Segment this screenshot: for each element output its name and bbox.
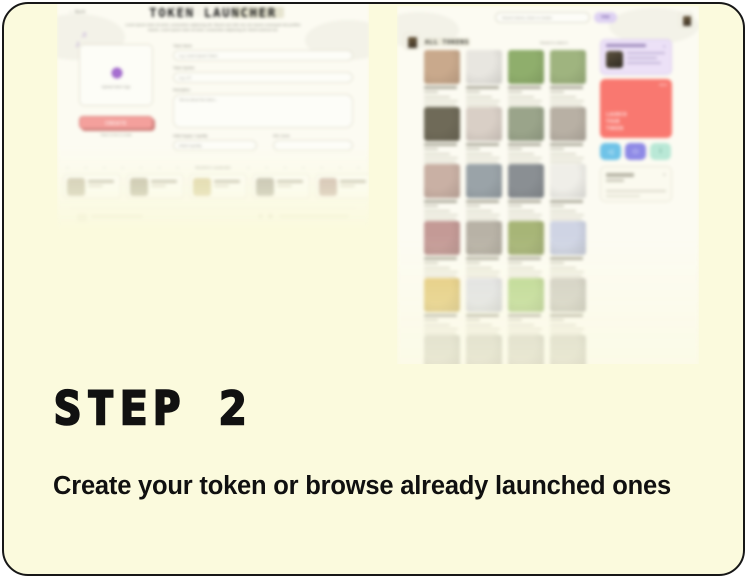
field-label-token-symbol: Token Symbol [173,66,194,70]
token-desc-line [550,161,582,163]
tab-dot[interactable]: • [85,166,86,170]
token-desc-line [508,104,540,106]
token-name [88,180,114,183]
token-desc-line [424,271,458,273]
search-button[interactable]: FIND [594,12,617,23]
token-desc-line [508,328,542,330]
token-name [466,86,499,89]
promo-badge: NEW [659,83,667,87]
token-card[interactable] [550,107,586,172]
token-creator [508,210,534,212]
token-creator [550,153,576,155]
step-card: ← Back TOKEN LAUNCHER Lorem ipsum dolor … [2,2,745,576]
token-name [550,143,583,146]
launcher-subtitle: Lorem ipsum dolor sit amet, consectetur … [125,23,301,34]
share-icon: ◁ [608,148,613,156]
tab-dot[interactable]: • [358,166,359,170]
token-image [508,221,544,255]
token-desc-line [466,161,498,163]
token-name [508,200,541,203]
token-card[interactable] [508,278,544,343]
tab-dot[interactable]: • [321,166,322,170]
token-card[interactable] [508,50,544,115]
token-desc-line [550,218,582,220]
token-creator [550,324,576,326]
token-card[interactable] [508,107,544,172]
token-desc-line [508,218,540,220]
token-image [424,278,460,312]
tab-dot[interactable]: • [159,166,160,170]
token-desc-line [466,218,498,220]
stats-line [606,195,640,197]
token-name [550,314,583,317]
token-creator [424,210,450,212]
carousel-token-card[interactable] [63,174,121,199]
token-desc-line [466,157,500,159]
token-image [550,164,586,198]
token-image [466,335,502,364]
token-image [466,221,502,255]
field-label-liquidity: Initial Supply / Liquidity [173,134,208,138]
token-desc-line [466,332,498,334]
token-card[interactable] [550,335,586,364]
token-symbol [550,148,564,150]
info-button[interactable]: i [650,143,671,160]
app-logo-icon[interactable] [404,33,419,50]
recent-token-carousel[interactable] [57,174,369,200]
community-icon: ⚇ [632,148,638,156]
token-desc-line [466,104,498,106]
token-symbol [214,185,229,187]
music-note-decoration: ♬ [81,30,89,39]
token-card[interactable] [466,50,502,115]
stats-info-card[interactable]: ✕ [600,166,672,202]
notification-thumbnail [606,51,623,68]
token-card[interactable] [508,164,544,229]
token-card[interactable] [466,107,502,172]
token-image [508,278,544,312]
token-image [550,221,586,255]
token-symbol [151,185,166,187]
field-label-curve: SOL Curve [273,134,290,138]
token-card[interactable] [466,335,502,364]
token-card[interactable] [424,107,460,172]
token-creator [508,267,534,269]
token-creator [508,324,534,326]
token-desc-line [550,100,584,102]
token-creator [550,267,576,269]
token-card[interactable] [550,50,586,115]
token-name [466,257,499,260]
token-image [466,278,502,312]
token-desc-line [550,157,584,159]
token-symbol [466,319,480,321]
create-note: Token is free to create [79,133,153,137]
token-desc-line [508,161,540,163]
stats-line [606,190,666,192]
token-name [424,257,457,260]
token-symbol [466,205,480,207]
token-symbol [466,148,480,150]
liquidity-select[interactable]: Initial Liquidity [173,140,257,151]
token-image [424,107,460,141]
token-name [151,180,177,183]
launcher-page-title: TOKEN LAUNCHER [57,5,369,20]
token-symbol-value: e.g. LIT [179,76,191,80]
search-button-label: FIND [594,15,617,19]
token-card[interactable] [508,221,544,286]
launch-token-promo-card[interactable]: NEW LAUNCHYOURTOKEN [600,79,672,138]
token-image [424,335,460,364]
token-image [550,335,586,364]
token-name-value: e.g. Lorem Ipsum Token [179,54,218,58]
token-card[interactable] [550,221,586,286]
tab-dot[interactable]: • [140,166,141,170]
token-image [508,164,544,198]
token-creator [424,267,450,269]
create-token-button[interactable]: CREATE [79,116,153,129]
token-thumbnail [67,178,85,196]
token-name [508,143,541,146]
token-name [466,143,499,146]
token-desc-line [508,271,542,273]
notification-line [627,57,657,59]
token-image [508,335,544,364]
token-name [466,200,499,203]
token-symbol [424,91,438,93]
token-name [277,180,303,183]
search-placeholder: Search tokens, ticker or creator [502,16,552,20]
token-symbol [340,185,355,187]
token-desc-line [466,275,498,277]
token-desc-line [550,332,582,334]
promo-text: LAUNCHYOURTOKEN [606,112,627,133]
token-name [550,86,583,89]
footer-links[interactable] [279,215,349,218]
all-tokens-heading: ALL TOKENS [425,39,469,46]
field-label-description: Description [173,88,190,92]
social-icon[interactable] [258,214,263,219]
token-desc-line [550,271,584,273]
token-symbol [88,185,103,187]
token-desc-line [466,328,500,330]
token-creator [550,96,576,98]
footer-logo-icon [77,214,87,222]
token-image [550,278,586,312]
token-name [424,86,457,89]
token-desc-line [424,161,456,163]
token-desc-line [466,271,500,273]
token-name [550,257,583,260]
token-symbol [277,185,292,187]
token-desc-line [466,214,500,216]
notification-line [627,62,661,64]
upload-label: Upload token logo [80,85,152,89]
social-icon[interactable] [268,214,273,219]
token-desc-line [424,275,456,277]
token-creator [466,324,492,326]
tab-dot[interactable]: • [177,166,178,170]
carousel-token-card[interactable] [252,174,310,199]
token-name-input[interactable]: e.g. Lorem Ipsum Token [173,50,353,61]
liquidity-value: Initial Liquidity [179,144,202,148]
create-button-label: CREATE [80,121,152,127]
tab-dot[interactable]: • [284,166,285,170]
tab-dot[interactable]: • [122,166,123,170]
tab-dot[interactable]: • [266,166,267,170]
token-symbol [550,262,564,264]
token-name [214,180,240,183]
token-image [550,50,586,84]
stats-subtitle [606,179,624,182]
tab-dot[interactable]: • [339,166,340,170]
token-card[interactable] [508,335,544,364]
tab-dot[interactable]: • [248,166,249,170]
token-thumbnail [193,178,211,196]
token-thumbnail [130,178,148,196]
token-symbol [550,205,564,207]
token-desc-line [424,218,456,220]
notification-line [627,52,665,54]
notification-title [606,44,646,47]
token-image [424,221,460,255]
token-name [424,314,457,317]
token-desc-line [508,157,542,159]
token-card[interactable] [466,221,502,286]
upload-logo-dropzone[interactable]: Upload token logo [79,44,153,106]
close-icon[interactable]: ✕ [663,44,666,49]
token-symbol [508,205,522,207]
carousel-token-card[interactable] [126,174,184,199]
token-card[interactable] [424,221,460,286]
token-symbol-input[interactable]: e.g. LIT [173,72,353,83]
token-created-notification-card[interactable]: ✕ [600,39,672,75]
info-icon: i [660,148,662,155]
token-desc-line [550,275,582,277]
token-desc-line [508,214,542,216]
token-image [424,164,460,198]
token-symbol [508,91,522,93]
tab-dot[interactable]: • [104,166,105,170]
token-image [466,164,502,198]
search-input[interactable]: Search tokens, ticker or creator [495,12,590,23]
carousel-token-card[interactable] [315,174,369,199]
token-card[interactable] [424,278,460,343]
token-desc-line [508,100,542,102]
token-card[interactable] [424,335,460,364]
token-symbol [424,205,438,207]
stats-title [606,173,634,177]
token-desc-line [424,332,456,334]
token-name [508,86,541,89]
token-creator [550,210,576,212]
token-symbol [508,148,522,150]
token-symbol [550,91,564,93]
token-name [466,314,499,317]
token-creator [424,96,450,98]
token-desc-line [508,275,540,277]
profile-icon[interactable] [679,12,693,28]
token-card[interactable] [466,278,502,343]
close-icon[interactable]: ✕ [663,172,666,177]
field-label-token-name: Token Name [173,44,192,48]
footer-brand [91,215,143,218]
token-card[interactable] [466,164,502,229]
token-card[interactable] [424,50,460,115]
screenshot-stage: ← Back TOKEN LAUNCHER Lorem ipsum dolor … [4,4,745,364]
token-card[interactable] [424,164,460,229]
token-desc-line [550,214,584,216]
community-button[interactable]: ⚇ [625,143,646,160]
token-image [424,50,460,84]
tab-dot[interactable]: • [67,166,68,170]
token-symbol [424,262,438,264]
token-creator [424,324,450,326]
token-thumbnail [319,178,337,196]
token-symbol [466,91,480,93]
token-name [550,200,583,203]
token-name [508,314,541,317]
sort-dropdown[interactable]: Newest to oldest ▾ [540,41,568,45]
image-upload-icon [111,67,123,79]
token-creator [466,153,492,155]
token-image [508,107,544,141]
token-thumbnail [256,178,274,196]
token-symbol [424,319,438,321]
page-title: STEP 2 [54,386,253,431]
tab-dot[interactable]: • [303,166,304,170]
token-image [550,107,586,141]
token-creator [466,267,492,269]
token-desc-line [550,104,582,106]
carousel-heading: RECENTLY LAUNCHED [195,166,230,170]
music-note-decoration: ♪ [75,39,80,50]
curve-select[interactable] [273,140,353,151]
token-image [508,50,544,84]
carousel-token-card[interactable] [189,174,247,199]
description-value: Tell us about the token... [179,98,218,102]
token-symbol [424,148,438,150]
token-desc-line [508,332,540,334]
screenshot-token-launcher[interactable]: ← Back TOKEN LAUNCHER Lorem ipsum dolor … [57,4,369,232]
token-symbol [508,319,522,321]
token-image [466,50,502,84]
token-card[interactable] [550,278,586,343]
token-creator [508,153,534,155]
token-symbol [550,319,564,321]
token-symbol [508,262,522,264]
share-button[interactable]: ◁ [600,143,621,160]
token-desc-line [424,214,458,216]
token-symbol [466,262,480,264]
description-textarea[interactable]: Tell us about the token... [173,94,353,128]
page-description: Create your token or browse already laun… [53,470,673,503]
token-name [340,180,366,183]
token-name [424,200,457,203]
token-creator [508,96,534,98]
token-creator [424,153,450,155]
token-desc-line [424,157,458,159]
token-desc-line [424,328,458,330]
token-desc-line [550,328,584,330]
token-desc-line [424,100,458,102]
token-image [466,107,502,141]
token-desc-line [466,100,500,102]
token-creator [466,210,492,212]
token-card[interactable] [550,164,586,229]
carousel-tab-strip: • • • • • • • RECENTLY LAUNCHED • • • • … [67,164,359,171]
token-name [424,143,457,146]
token-creator [466,96,492,98]
launcher-footer [71,208,355,222]
token-name [508,257,541,260]
screenshot-all-tokens[interactable]: Search tokens, ticker or creator FIND AL… [397,6,699,364]
token-desc-line [424,104,456,106]
browse-topbar: Search tokens, ticker or creator FIND [397,6,699,28]
